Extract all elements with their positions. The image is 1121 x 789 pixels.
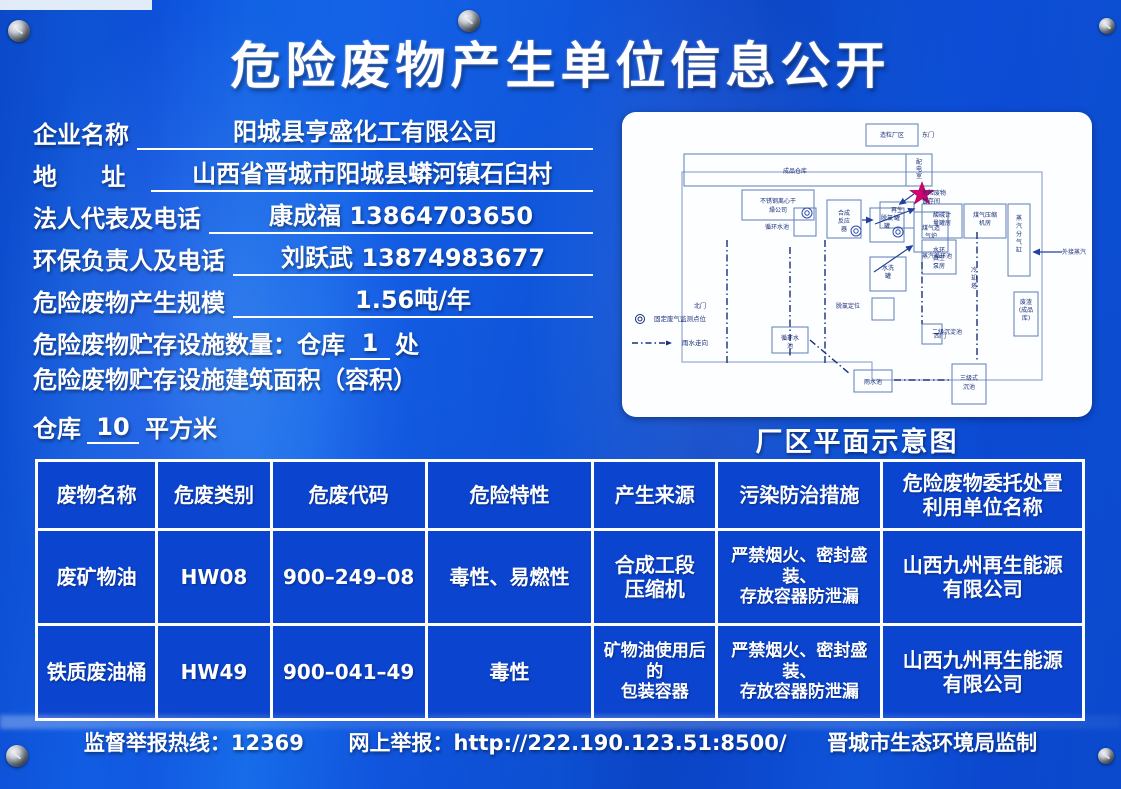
info-row-company: 企业名称 阳城县亨盛化工有限公司 xyxy=(33,108,593,150)
info-row-legal-rep: 法人代表及电话 康成福 13864703650 xyxy=(33,192,593,234)
header-measures: 污染防治措施 xyxy=(718,462,880,528)
cell-entrusted-unit-line2: 有限公司 xyxy=(886,672,1079,696)
svg-text:不锈钢离心干: 不锈钢离心干 xyxy=(760,197,796,205)
svg-text:循环水池: 循环水池 xyxy=(765,223,789,231)
svg-text:沉池: 沉池 xyxy=(963,383,975,391)
cell-waste-name: 铁质废油桶 xyxy=(38,626,155,718)
svg-text:外接蒸汽: 外接蒸汽 xyxy=(1062,248,1086,256)
svg-text:暂存间: 暂存间 xyxy=(922,197,940,205)
table-body: 废矿物油 HW08 900–249–08 毒性、易燃性 合成工段 压缩机 严禁烟… xyxy=(38,531,1082,718)
info-label-storage-area-title: 危险废物贮存设施建筑面积（容积） xyxy=(33,366,417,394)
page-title: 危险废物产生单位信息公开 xyxy=(0,26,1121,98)
header-entrusted-unit: 危险废物委托处置 利用单位名称 xyxy=(883,462,1082,528)
cell-measures: 严禁烟火、密封盛装、 存放容器防泄漏 xyxy=(718,531,880,623)
svg-text:冷: 冷 xyxy=(971,266,977,274)
svg-text:循环水: 循环水 xyxy=(781,334,799,342)
svg-text:室: 室 xyxy=(916,172,922,180)
svg-text:蒸: 蒸 xyxy=(1016,214,1022,222)
svg-text:罐: 罐 xyxy=(884,222,890,230)
svg-text:罐: 罐 xyxy=(894,214,900,222)
info-value-company: 阳城县亨盛化工有限公司 xyxy=(137,112,593,150)
cell-source: 矿物油使用后的 包装容器 xyxy=(594,626,715,718)
svg-text:库): 库) xyxy=(1022,314,1030,322)
cell-measures-line1: 严禁烟火、密封盛装、 xyxy=(721,641,877,682)
cell-source-line1: 合成工段 xyxy=(597,553,712,577)
info-label-generation-scale: 危险废物产生规模 xyxy=(33,283,225,318)
svg-text:北门: 北门 xyxy=(694,302,706,310)
svg-text:汽: 汽 xyxy=(1016,222,1022,230)
site-plan-diagram: 固定废气监测点位 雨水走向 成品仓库 配电室 造粒厂区 再生罐 不锈钢离心干燥公… xyxy=(622,112,1092,417)
svg-text:酸碱计: 酸碱计 xyxy=(933,211,951,219)
svg-text:气: 气 xyxy=(1016,238,1022,246)
info-unit-storage-count: 处 xyxy=(395,325,419,360)
info-row-generation-scale: 危险废物产生规模 1.56吨/年 xyxy=(33,276,593,318)
cell-waste-category: HW08 xyxy=(158,531,269,623)
svg-text:气炉: 气炉 xyxy=(925,232,937,240)
header-entrusted-unit-line2: 利用单位名称 xyxy=(886,495,1079,519)
info-label-storage-area: 仓库 xyxy=(33,409,81,444)
hazardous-waste-table-wrapper: 废物名称 危废类别 危废代码 危险特性 产生来源 污染防治措施 危险废物委托处置… xyxy=(35,459,1085,721)
footer-online-label: 网上举报： xyxy=(349,727,454,757)
svg-text:成品仓库: 成品仓库 xyxy=(783,167,807,175)
info-value-generation-scale: 1.56吨/年 xyxy=(233,280,593,318)
footer-online-value[interactable]: http://222.190.123.51:8500/ xyxy=(454,731,787,755)
svg-text:器: 器 xyxy=(841,226,847,233)
svg-text:缸: 缸 xyxy=(1016,246,1022,254)
info-row-storage-area-title: 危险废物贮存设施建筑面积（容积） xyxy=(33,360,593,402)
board-top-edge-strip xyxy=(0,0,152,10)
svg-text:固定废气监测点位: 固定废气监测点位 xyxy=(654,314,707,323)
table-header: 废物名称 危废类别 危废代码 危险特性 产生来源 污染防治措施 危险废物委托处置… xyxy=(38,462,1082,528)
cell-entrusted-unit-line1: 山西九州再生能源 xyxy=(886,553,1079,577)
cell-entrusted-unit-line1: 山西九州再生能源 xyxy=(886,648,1079,672)
cell-measures: 严禁烟火、密封盛装、 存放容器防泄漏 xyxy=(718,626,880,718)
cell-entrusted-unit: 山西九州再生能源 有限公司 xyxy=(883,626,1082,718)
info-label-address: 地 址 xyxy=(33,157,143,192)
cell-hazard-property: 毒性 xyxy=(428,626,591,718)
info-value-env-officer: 刘跃武 13874983677 xyxy=(233,238,593,276)
cell-measures-line2: 存放容器防泄漏 xyxy=(721,682,877,703)
info-value-storage-area: 10 xyxy=(87,413,139,444)
info-label-storage-count: 危险废物贮存设施数量：仓库 xyxy=(33,325,345,360)
hazardous-waste-table: 废物名称 危废类别 危废代码 危险特性 产生来源 污染防治措施 危险废物委托处置… xyxy=(35,459,1085,721)
svg-text:(成品: (成品 xyxy=(1019,306,1033,314)
site-plan-caption: 厂区平面示意图 xyxy=(622,420,1092,459)
svg-text:燥公司: 燥公司 xyxy=(769,206,787,214)
svg-text:电: 电 xyxy=(916,165,922,173)
cell-waste-code: 900–041–49 xyxy=(273,626,425,718)
header-waste-category: 危废类别 xyxy=(158,462,269,528)
footer-bar: 监督举报热线：12369 网上举报：http://222.190.123.51:… xyxy=(0,727,1121,757)
svg-text:东门: 东门 xyxy=(922,131,934,139)
facility-info-block: 企业名称 阳城县亨盛化工有限公司 地 址 山西省晋城市阳城县蟒河镇石臼村 法人代… xyxy=(33,108,593,444)
cell-source-line1: 矿物油使用后的 xyxy=(597,641,712,682)
svg-text:蒸汽循环池: 蒸汽循环池 xyxy=(922,252,952,260)
info-row-env-officer: 环保负责人及电话 刘跃武 13874983677 xyxy=(33,234,593,276)
cell-measures-line1: 严禁烟火、密封盛装、 xyxy=(721,546,877,587)
cell-measures-line2: 存放容器防泄漏 xyxy=(721,587,877,608)
header-entrusted-unit-line1: 危险废物委托处置 xyxy=(886,471,1079,495)
info-label-legal-rep: 法人代表及电话 xyxy=(33,199,201,234)
info-label-env-officer: 环保负责人及电话 xyxy=(33,241,225,276)
cell-source-line2: 包装容器 xyxy=(597,682,712,703)
svg-text:三级式: 三级式 xyxy=(960,374,978,382)
info-value-storage-count: 1 xyxy=(350,329,390,360)
svg-text:泵房: 泵房 xyxy=(933,262,945,270)
header-source: 产生来源 xyxy=(594,462,715,528)
svg-text:塔: 塔 xyxy=(971,282,977,290)
svg-text:脱氯定位: 脱氯定位 xyxy=(836,302,860,310)
cell-entrusted-unit: 山西九州再生能源 有限公司 xyxy=(883,531,1082,623)
svg-text:却: 却 xyxy=(971,274,977,282)
svg-text:水洗: 水洗 xyxy=(882,264,894,272)
header-waste-name: 废物名称 xyxy=(38,462,155,528)
table-header-row: 废物名称 危废类别 危废代码 危险特性 产生来源 污染防治措施 危险废物委托处置… xyxy=(38,462,1082,528)
svg-text:分: 分 xyxy=(1016,230,1022,238)
info-value-legal-rep: 康成福 13864703650 xyxy=(209,196,593,234)
svg-text:废渣: 废渣 xyxy=(1020,298,1032,306)
svg-text:配: 配 xyxy=(916,159,922,166)
svg-text:再生: 再生 xyxy=(891,206,903,214)
cell-hazard-property: 毒性、易燃性 xyxy=(428,531,591,623)
cell-source-line2: 压缩机 xyxy=(597,577,712,601)
footer-hotline-value: 12369 xyxy=(231,731,304,755)
footer-authority: 晋城市生态环境局监制 xyxy=(827,727,1037,757)
svg-text:合成: 合成 xyxy=(838,209,850,217)
svg-text:池: 池 xyxy=(787,342,793,350)
svg-text:造粒厂区: 造粒厂区 xyxy=(880,131,904,139)
info-row-storage-area: 仓库 10 平方米 xyxy=(33,402,593,444)
info-value-address: 山西省晋城市阳城县蟒河镇石臼村 xyxy=(151,154,593,192)
information-board: 危险废物产生单位信息公开 企业名称 阳城县亨盛化工有限公司 地 址 山西省晋城市… xyxy=(0,0,1121,789)
info-row-address: 地 址 山西省晋城市阳城县蟒河镇石臼村 xyxy=(33,150,593,192)
header-waste-code: 危废代码 xyxy=(273,462,425,528)
svg-text:脱氯: 脱氯 xyxy=(881,214,893,222)
info-unit-storage-area: 平方米 xyxy=(145,409,217,444)
svg-text:煤气压缩: 煤气压缩 xyxy=(973,211,997,219)
cell-waste-category: HW49 xyxy=(158,626,269,718)
svg-text:反应: 反应 xyxy=(838,217,850,225)
svg-text:罐: 罐 xyxy=(885,272,891,280)
header-hazard-property: 危险特性 xyxy=(428,462,591,528)
map-legend: 固定废气监测点位 雨水走向 xyxy=(632,314,708,347)
info-row-storage-count: 危险废物贮存设施数量：仓库 1 处 xyxy=(33,318,593,360)
svg-text:雨水池: 雨水池 xyxy=(864,378,882,386)
svg-text:机房: 机房 xyxy=(979,219,991,227)
svg-text:煤气造: 煤气造 xyxy=(922,224,940,232)
svg-text:西门: 西门 xyxy=(934,332,946,340)
cell-waste-name: 废矿物油 xyxy=(38,531,155,623)
footer-hotline-label: 监督举报热线： xyxy=(84,727,231,757)
svg-text:雨水走向: 雨水走向 xyxy=(682,338,708,347)
cell-source: 合成工段 压缩机 xyxy=(594,531,715,623)
info-label-company: 企业名称 xyxy=(33,115,129,150)
table-row: 废矿物油 HW08 900–249–08 毒性、易燃性 合成工段 压缩机 严禁烟… xyxy=(38,531,1082,623)
cell-waste-code: 900–249–08 xyxy=(273,531,425,623)
site-plan-svg: 固定废气监测点位 雨水走向 成品仓库 配电室 造粒厂区 再生罐 不锈钢离心干燥公… xyxy=(622,112,1092,417)
cell-entrusted-unit-line2: 有限公司 xyxy=(886,577,1079,601)
svg-text:危险废物: 危险废物 xyxy=(922,189,946,197)
table-row: 铁质废油桶 HW49 900–041–49 毒性 矿物油使用后的 包装容器 严禁… xyxy=(38,626,1082,718)
